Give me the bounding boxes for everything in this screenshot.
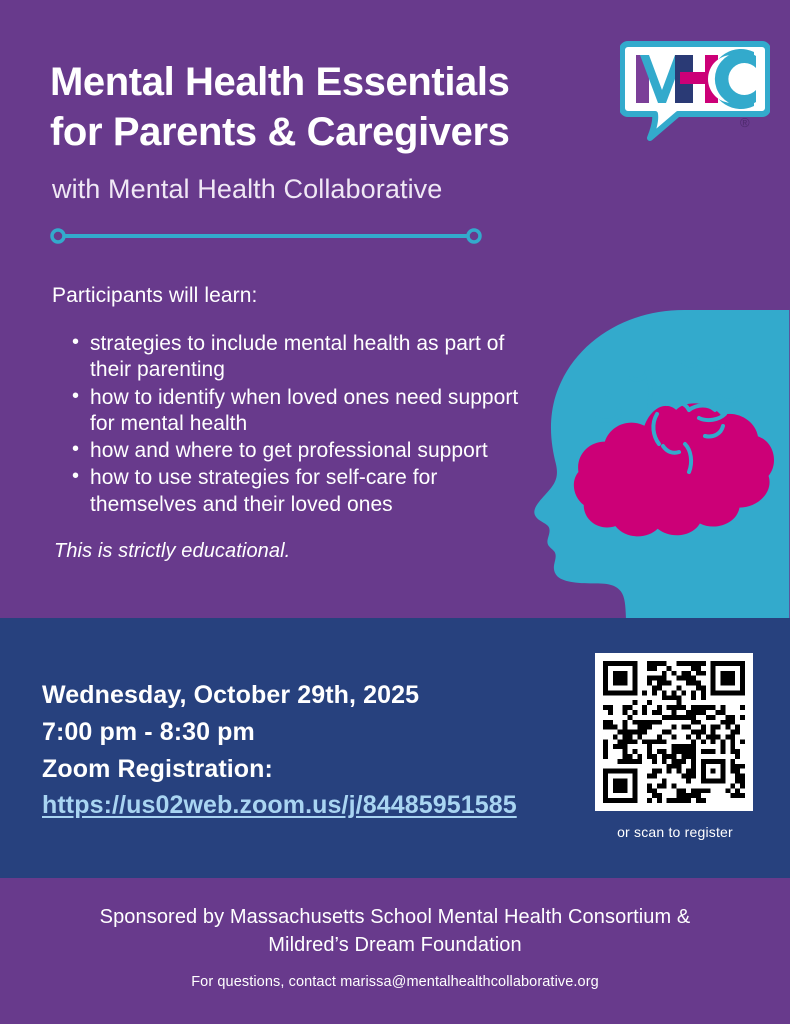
learn-list: strategies to include mental health as p… bbox=[52, 331, 522, 519]
list-item: how to identify when loved ones need sup… bbox=[52, 385, 522, 438]
event-time: 7:00 pm - 8:30 pm bbox=[42, 714, 572, 751]
event-date: Wednesday, October 29th, 2025 bbox=[42, 677, 572, 714]
registration-label: Zoom Registration: bbox=[42, 751, 572, 788]
poster-root: Mental Health Essentials for Parents & C… bbox=[0, 0, 790, 1024]
page-title: Mental Health Essentials for Parents & C… bbox=[50, 58, 620, 157]
zoom-registration-link[interactable]: https://us02web.zoom.us/j/84485951585 bbox=[42, 787, 517, 824]
registered-trademark-icon: ® bbox=[740, 116, 750, 129]
page-subtitle: with Mental Health Collaborative bbox=[52, 173, 620, 205]
qr-caption: or scan to register bbox=[560, 824, 790, 840]
head-profile-with-brain-icon bbox=[527, 296, 790, 618]
sponsor-text: Sponsored by Massachusetts School Mental… bbox=[60, 903, 730, 959]
list-item: how and where to get professional suppor… bbox=[52, 438, 522, 464]
title-block: Mental Health Essentials for Parents & C… bbox=[50, 58, 620, 206]
educational-note: This is strictly educational. bbox=[54, 540, 290, 563]
learn-intro-label: Participants will learn: bbox=[52, 284, 257, 308]
qr-code[interactable] bbox=[595, 653, 753, 811]
contact-text: For questions, contact marissa@mentalhea… bbox=[60, 974, 730, 990]
qr-code-icon[interactable] bbox=[603, 661, 745, 803]
event-details: Wednesday, October 29th, 2025 7:00 pm - … bbox=[42, 677, 572, 824]
divider bbox=[50, 228, 482, 244]
line-with-endpoint-dots-icon bbox=[50, 228, 482, 244]
list-item: strategies to include mental health as p… bbox=[52, 331, 522, 384]
mhc-logo: ® bbox=[620, 38, 770, 143]
head-profile-with-brain bbox=[527, 296, 790, 618]
list-item: how to use strategies for self-care for … bbox=[52, 465, 522, 518]
